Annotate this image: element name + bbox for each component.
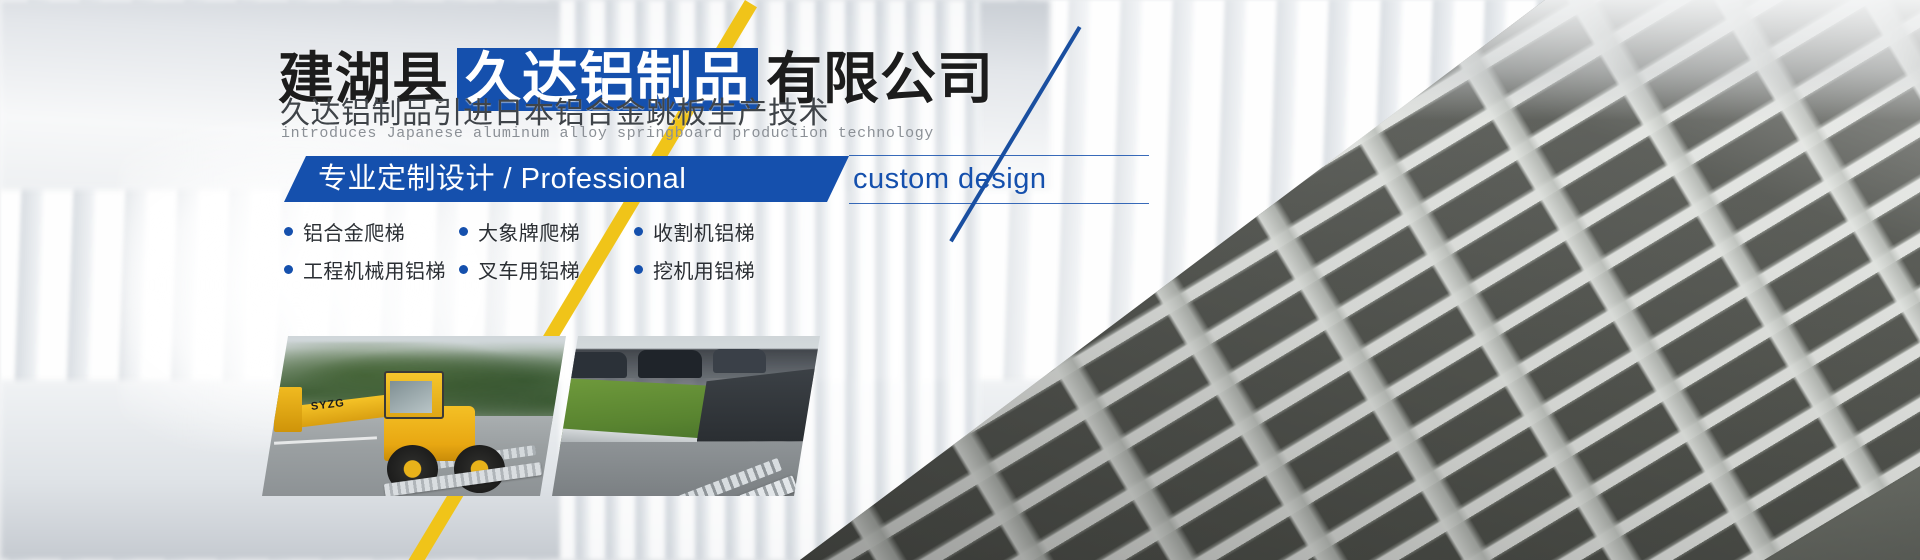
feature-item[interactable]: 大象牌爬梯 [459, 217, 634, 246]
ribbon-rule-bottom [849, 203, 1149, 204]
photo-ramps-on-truck[interactable] [552, 336, 820, 496]
photo1-cab-glass [390, 381, 433, 413]
feature-label: 叉车用铝梯 [478, 255, 580, 284]
banner-content: 建湖县 久达铝制品 有限公司 久达铝制品引进日本铝合金跳板生产技术 introd… [0, 0, 1000, 560]
photo-strip: SYZG [262, 336, 822, 496]
feature-label: 工程机械用铝梯 [303, 255, 446, 284]
photo2-car [713, 349, 767, 373]
feature-row: 工程机械用铝梯 叉车用铝梯 挖机用铝梯 [284, 250, 964, 288]
bullet-dot-icon [634, 227, 643, 236]
product-hero-banner: 建湖县 久达铝制品 有限公司 久达铝制品引进日本铝合金跳板生产技术 introd… [0, 0, 1920, 560]
feature-item[interactable]: 叉车用铝梯 [459, 255, 634, 284]
photo1-loader-fork [274, 387, 301, 432]
ribbon-primary-text: 专业定制设计 / Professional [318, 156, 686, 202]
bullet-dot-icon [459, 265, 468, 274]
feature-label: 收割机铝梯 [653, 217, 755, 246]
feature-label: 铝合金爬梯 [303, 217, 405, 246]
bullet-dot-icon [459, 227, 468, 236]
bullet-dot-icon [284, 227, 293, 236]
feature-label: 挖机用铝梯 [653, 255, 755, 284]
ribbon-secondary-text: custom design [853, 156, 1047, 202]
feature-item[interactable]: 挖机用铝梯 [634, 255, 834, 284]
feature-row: 铝合金爬梯 大象牌爬梯 收割机铝梯 [284, 212, 964, 250]
subtitle-english: introduces Japanese aluminum alloy sprin… [281, 125, 934, 142]
feature-list: 铝合金爬梯 大象牌爬梯 收割机铝梯 工程机械用铝梯 叉车用铝 [284, 212, 964, 288]
photo2-car [568, 352, 627, 378]
feature-item[interactable]: 铝合金爬梯 [284, 217, 459, 246]
feature-item[interactable]: 收割机铝梯 [634, 217, 834, 246]
tagline-ribbon: 专业定制设计 / Professional [284, 156, 849, 202]
feature-label: 大象牌爬梯 [478, 217, 580, 246]
bullet-dot-icon [634, 265, 643, 274]
photo2-car [638, 350, 702, 377]
bullet-dot-icon [284, 265, 293, 274]
feature-item[interactable]: 工程机械用铝梯 [284, 255, 459, 284]
photo-loader-on-ramps[interactable]: SYZG [262, 336, 566, 496]
